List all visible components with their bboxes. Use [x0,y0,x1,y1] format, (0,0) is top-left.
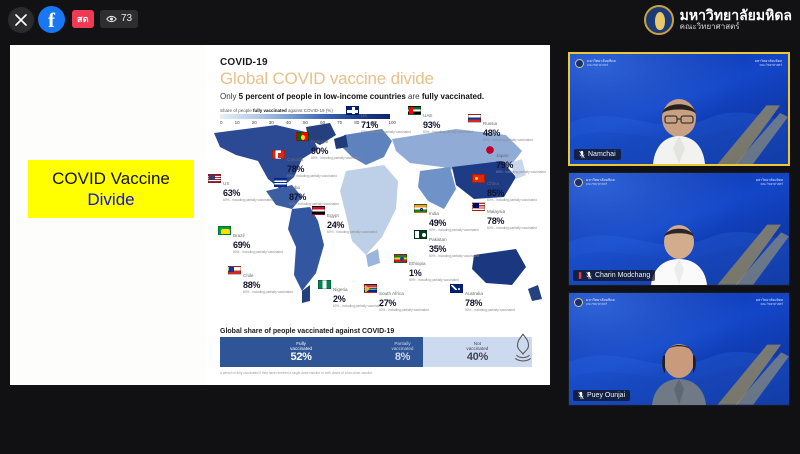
map-label-portugal: Portugal90%60% - including partially vac… [296,131,361,160]
flag-eg [312,206,325,215]
map-label-us: US63%60% - including partially vaccinate… [208,173,273,202]
mic-muted-icon [579,150,585,159]
country-value: 90% [311,147,361,156]
flag-pk [414,230,427,239]
participant-name: Puey Ounjai [587,392,625,399]
mic-muted-icon [586,271,592,280]
university-seal-icon [644,5,674,35]
flag-cu [274,178,287,187]
infographic-subtitle: Only 5 percent of people in low-income c… [220,92,536,101]
flag-et [394,254,407,263]
segment-label: Notvaccinated [466,341,488,352]
map-label-china: China85%60% - including partially vaccin… [472,173,537,202]
country-name: US [223,181,229,186]
flag-in [414,204,427,213]
flag-jp [486,146,494,154]
infographic-kicker: COVID-19 [220,57,536,68]
recording-indicator-icon [578,272,583,279]
map-label-malaysia: Malaysia78%60% - including partially vac… [472,201,537,230]
country-value: 78% [287,165,337,174]
country-value: 24% [327,221,377,230]
country-name: Pakistan [429,237,447,242]
participant-name-bar: Puey Ounjai [573,390,630,401]
participant-video-figure [639,98,719,164]
country-value: 78% [487,217,537,226]
viewer-count-value: 73 [121,10,132,28]
world-map: US63%60% - including partially vaccinate… [206,105,550,320]
tile-logo-faculty: คณะวิทยาศาสตร์ [587,64,616,67]
country-note: 60% - including partially vaccinated [423,131,473,135]
annotation-line-2: Divide [87,189,134,210]
segment-label: Partiallyvaccinated [392,341,414,352]
participant-tile-puey-ounjai[interactable]: มหาวิทยาลัยมหิดล คณะวิทยาศาสตร์ มหาวิทยา… [568,292,790,406]
close-icon [15,14,27,26]
flag-ng [318,280,331,289]
flag-cl [228,266,241,275]
map-label-egypt: Egypt24%60% - including partially vaccin… [312,205,377,234]
summary-bar: Fullyvaccinated 52% Partiallyvaccinated … [220,337,532,367]
university-faculty: คณะวิทยาศาสตร์ [680,23,792,31]
flag-pt [296,132,309,141]
al-jazeera-logo-icon [512,333,534,363]
country-name: Russia [483,121,497,126]
university-seal-icon [575,59,584,68]
country-name: Australia [465,291,483,296]
university-seal-icon [574,178,583,187]
university-branding: มหาวิทยาลัยมหิดล คณะวิทยาศาสตร์ [644,3,792,37]
university-seal-icon [574,298,583,307]
map-label-chile: Chile88%60% - including partially vaccin… [228,265,293,294]
map-label-russia: Russia48%60% - including partially vacci… [468,113,533,142]
map-label-japan: Japan79%60% - including partially vaccin… [486,145,546,174]
country-name: Chile [243,273,253,278]
country-value: 49% [429,219,479,228]
country-value: 87% [289,193,339,202]
tile-logo-right: มหาวิทยาลัยมหิดล คณะวิทยาศาสตร์ [755,60,782,67]
country-name: Ethiopia [409,261,426,266]
country-value: 78% [465,299,515,308]
flag-ca [272,150,285,159]
country-name: China [487,181,499,186]
close-button[interactable] [8,7,34,33]
country-note: 60% - including partially vaccinated [223,199,273,203]
participant-name: Namchai [588,151,616,158]
country-name: South Africa [379,291,404,296]
mic-muted-icon [578,391,584,400]
flag-gb [346,106,359,115]
summary-segment-fully: Fullyvaccinated 52% [220,337,382,367]
segment-value: 40% [467,351,488,363]
tile-logo-left: มหาวิทยาลัยมหิดล คณะวิทยาศาสตร์ [575,59,616,68]
country-value: 88% [243,281,293,290]
flag-ae [408,106,421,115]
tile-logo-left: มหาวิทยาลัยมหิดล คณะวิทยาศาสตร์ [574,178,615,187]
flag-ru [468,114,481,123]
segment-label: Fullyvaccinated [290,341,312,352]
infographic-footer: A person is fully vaccinated if they hav… [220,371,532,375]
university-name: มหาวิทยาลัยมหิดล [680,8,792,23]
flag-us [208,174,221,183]
shared-screen-stage: COVID Vaccine Divide COVID-19 Global COV… [0,40,566,454]
summary-segment-partially: Partiallyvaccinated 8% [382,337,423,367]
country-name: Japan [496,153,509,158]
country-name: Malaysia [487,209,505,214]
country-name: Nigeria [333,287,348,292]
tile-logo-faculty: คณะวิทยาศาสตร์ [586,303,615,306]
country-note: 60% - including partially vaccinated [361,131,411,135]
country-note: 60% - including partially vaccinated [465,309,515,313]
country-name: Cuba [289,185,300,190]
presentation-slide: COVID Vaccine Divide COVID-19 Global COV… [10,45,550,385]
participant-name-bar: Namchai [574,149,621,160]
participant-tile-namchai[interactable]: มหาวิทยาลัยมหิดล คณะวิทยาศาสตร์ มหาวิทยา… [568,52,790,166]
country-value: 48% [483,129,533,138]
tile-logo-right: มหาวิทยาลัยมหิดล คณะวิทยาศาสตร์ [756,299,783,306]
country-note: 60% - including partially vaccinated [409,279,459,283]
flag-au [450,284,463,293]
infographic: COVID-19 Global COVID vaccine divide Onl… [206,45,550,385]
tile-logo-right: มหาวิทยาลัยมหิดล คณะวิทยาศาสตร์ [756,179,783,186]
country-value: 69% [233,241,283,250]
participant-name: Charin Modchang [595,272,650,279]
country-value: 85% [487,189,537,198]
country-value: 27% [379,299,429,308]
country-note: 60% - including partially vaccinated [483,139,533,143]
tile-logo-faculty-right: คณะวิทยาศาสตร์ [755,64,782,67]
country-value: 93% [423,121,473,130]
country-note: 60% - including partially vaccinated [327,231,377,235]
annotation-line-1: COVID Vaccine [52,168,170,189]
country-value: 63% [223,189,273,198]
participant-name-bar: Charin Modchang [573,270,655,281]
map-label-uk: UK71%60% - including partially vaccinate… [346,105,411,134]
flag-za [364,284,377,293]
country-note: 60% - including partially vaccinated [487,227,537,231]
country-note: 60% - including partially vaccinated [379,309,429,313]
map-label-uae: UAE93%60% - including partially vaccinat… [408,105,473,134]
slide-annotation-box: COVID Vaccine Divide [28,160,194,218]
map-label-australia: Australia78%60% - including partially va… [450,283,515,312]
eye-icon [106,15,117,23]
country-name: India [429,211,439,216]
live-badge: สด [72,10,94,28]
map-label-south-africa: South Africa27%60% - including partially… [364,283,429,312]
country-note: 60% - including partially vaccinated [233,251,283,255]
map-label-cuba: Cuba87%60% - including partially vaccina… [274,177,339,206]
country-name: Egypt [327,213,339,218]
map-label-india: India49%60% - including partially vaccin… [414,203,479,232]
facebook-logo-icon[interactable]: f [38,6,65,33]
country-note: 60% - including partially vaccinated [311,157,361,161]
country-name: UAE [423,113,432,118]
tile-logo-faculty-right: คณะวิทยาศาสตร์ [756,303,783,306]
country-name: Brazil [233,233,245,238]
infographic-title: Global COVID vaccine divide [220,69,536,89]
country-name: UK [361,113,367,118]
viewer-count: 73 [100,10,138,28]
tile-logo-left: มหาวิทยาลัยมหิดล คณะวิทยาศาสตร์ [574,298,615,307]
participant-tiles: มหาวิทยาลัยมหิดล คณะวิทยาศาสตร์ มหาวิทยา… [568,52,794,412]
country-value: 79% [496,161,546,170]
participant-tile-charin-modchang[interactable]: มหาวิทยาลัยมหิดล คณะวิทยาศาสตร์ มหาวิทยา… [568,172,790,286]
country-value: 1% [409,269,459,278]
live-stream-viewer: f สด 73 มหาวิทยาลัยมหิดล คณะวิทยาศาสตร์ … [0,0,800,454]
tile-logo-faculty: คณะวิทยาศาสตร์ [586,183,615,186]
summary-title: Global share of people vaccinated agains… [220,328,394,335]
map-label-brazil: Brazil69%60% - including partially vacci… [218,225,283,254]
top-bar: f สด 73 มหาวิทยาลัยมหิดล คณะวิทยาศาสตร์ [0,0,800,40]
flag-br [218,226,231,235]
flag-cn [472,174,485,183]
country-name: Portugal [311,139,328,144]
tile-logo-faculty-right: คณะวิทยาศาสตร์ [756,183,783,186]
country-value: 71% [361,121,411,130]
country-note: 60% - including partially vaccinated [243,291,293,295]
participant-video-figure [640,341,718,405]
segment-value: 8% [395,351,410,363]
segment-value: 52% [291,351,312,363]
map-label-ethiopia: Ethiopia1%60% - including partially vacc… [394,253,459,282]
